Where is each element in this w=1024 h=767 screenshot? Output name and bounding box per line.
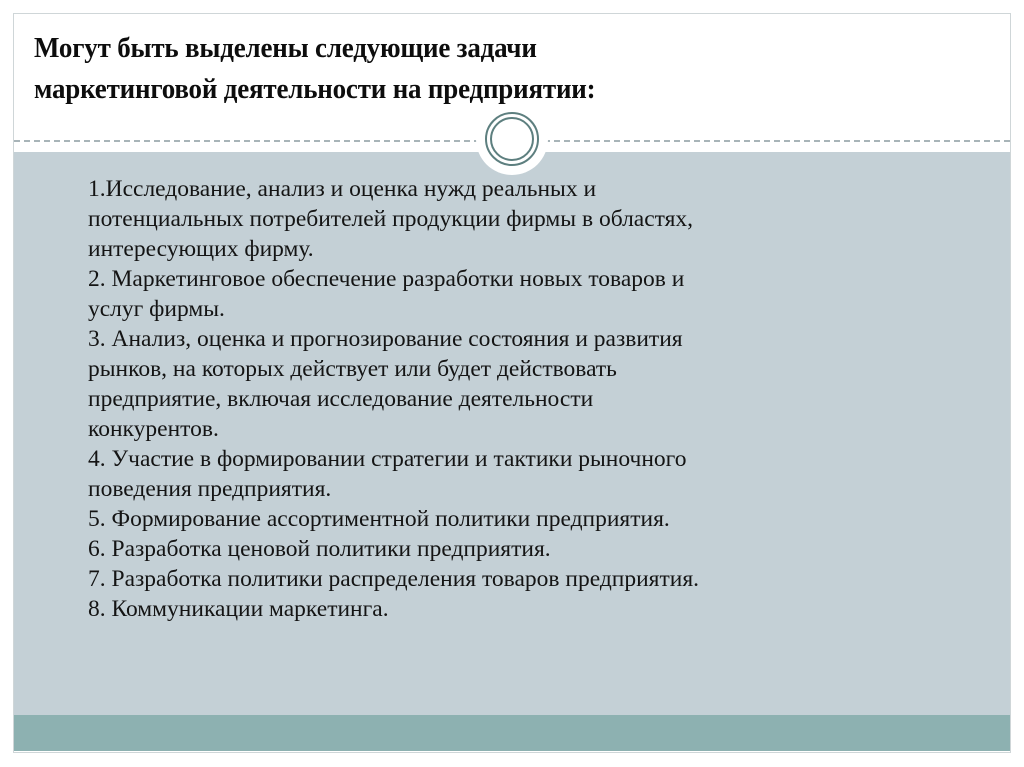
circle-inner-ring <box>490 117 534 161</box>
slide-title: Могут быть выделены следующие задачи мар… <box>34 28 899 110</box>
presentation-slide: Могут быть выделены следующие задачи мар… <box>13 13 1011 753</box>
slide-body-text: 1.Исследование, анализ и оценка нужд реа… <box>88 174 988 624</box>
double-ring-circle-icon <box>476 103 548 175</box>
slide-footer-band <box>14 715 1010 751</box>
slide-body-panel: 1.Исследование, анализ и оценка нужд реа… <box>14 152 1010 715</box>
